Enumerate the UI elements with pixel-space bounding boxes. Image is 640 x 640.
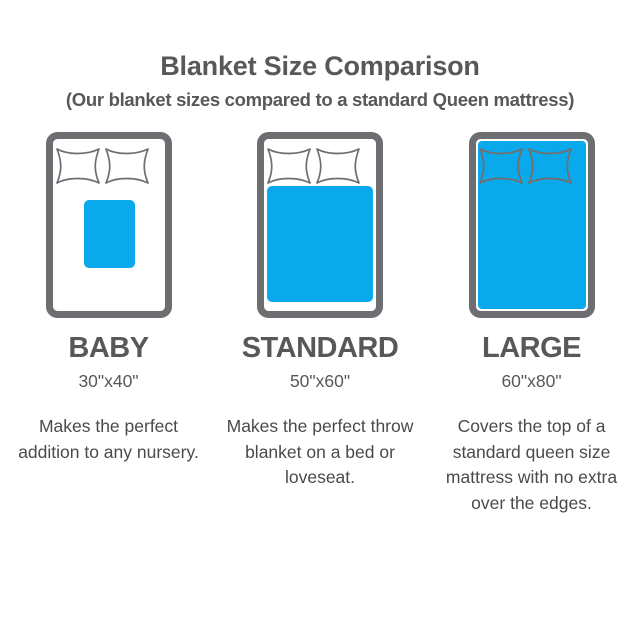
header: Blanket Size Comparison (Our blanket siz…: [0, 0, 640, 110]
bed-illustration-baby: [46, 132, 172, 318]
size-name-large: LARGE: [482, 334, 581, 363]
bed-diagram-large-icon: [469, 132, 595, 318]
pillow-right-baby-icon: [106, 149, 148, 183]
pillow-left-baby-icon: [57, 149, 99, 183]
pillow-left-standard-icon: [268, 149, 310, 183]
bed-diagram-standard-icon: [257, 132, 383, 318]
page-subtitle: (Our blanket sizes compared to a standar…: [0, 89, 640, 110]
comparison-columns: BABY 30"x40" Makes the perfect addition …: [0, 132, 640, 516]
size-name-baby: BABY: [68, 334, 148, 363]
comparison-column-large: LARGE 60"x80" Covers the top of a standa…: [427, 132, 636, 516]
size-name-standard: STANDARD: [242, 334, 399, 363]
size-description-large: Covers the top of a standard queen size …: [434, 414, 630, 516]
size-description-baby: Makes the perfect addition to any nurser…: [11, 414, 207, 465]
comparison-column-baby: BABY 30"x40" Makes the perfect addition …: [4, 132, 213, 465]
blanket-shape-baby: [84, 200, 135, 268]
bed-illustration-large: [469, 132, 595, 318]
blanket-shape-standard: [267, 186, 373, 302]
size-dims-baby: 30"x40": [78, 373, 138, 391]
bed-illustration-standard: [257, 132, 383, 318]
size-dims-standard: 50"x60": [290, 373, 350, 391]
blanket-size-comparison-page: Blanket Size Comparison (Our blanket siz…: [0, 0, 640, 640]
pillow-right-standard-icon: [317, 149, 359, 183]
bed-diagram-baby-icon: [46, 132, 172, 318]
comparison-column-standard: STANDARD 50"x60" Makes the perfect throw…: [216, 132, 425, 491]
size-dims-large: 60"x80": [501, 373, 561, 391]
page-title: Blanket Size Comparison: [0, 52, 640, 82]
size-description-standard: Makes the perfect throw blanket on a bed…: [222, 414, 418, 490]
